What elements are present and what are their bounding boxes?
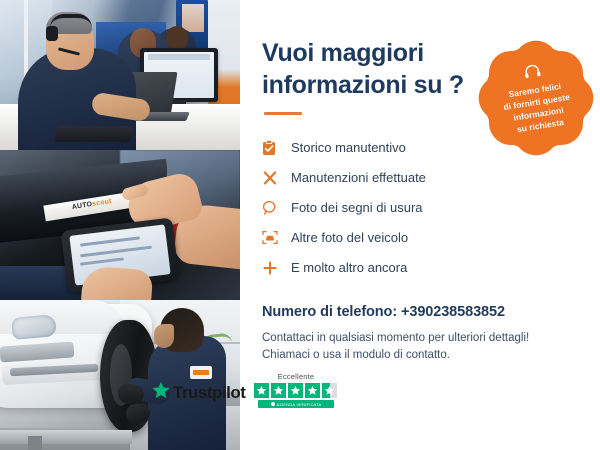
page-title-line-1: Vuoi maggiori: [262, 38, 477, 70]
trustpilot-rating-label: Eccellente: [278, 372, 315, 381]
title-underline-rule: [264, 112, 302, 115]
feature-item-foto-segni-usura: Foto dei segni di usura: [262, 193, 578, 222]
page-title: Vuoi maggiori informazioni su ?: [262, 38, 477, 101]
phone-number-line: Numero di telefono: +390238583852: [262, 304, 578, 320]
badge-content: Saremo felici di fornirti queste informa…: [474, 36, 598, 160]
magnifier-icon: [262, 200, 284, 216]
feature-label: Manutenzioni effettuate: [291, 170, 426, 185]
plus-icon: [262, 260, 284, 276]
trustpilot-star-filled: [254, 383, 269, 398]
feature-item-molto-altro: E molto altro ancora: [262, 253, 578, 282]
feature-label: Storico manutentivo: [291, 140, 406, 155]
feature-label: Altre foto del veicolo: [291, 230, 408, 245]
trustpilot-rating: Eccellente AZIEND: [254, 372, 337, 408]
request-info-badge: Saremo felici di fornirti queste informa…: [482, 44, 590, 152]
call-center-agent-headset-photo: [0, 0, 240, 150]
car-scan-icon: [262, 230, 284, 245]
feature-list: Storico manutentivo Manutenzioni effettu…: [262, 133, 578, 282]
background-colleague-2-head: [166, 26, 188, 50]
trustpilot-widget[interactable]: Trustpilot Eccellente: [152, 372, 337, 408]
laptop-keyboard: [54, 126, 134, 142]
trustpilot-star-filled: [271, 383, 286, 398]
clipboard-check-icon: [262, 140, 284, 156]
feature-label: Foto dei segni di usura: [291, 200, 423, 215]
car-headlamp: [11, 314, 57, 340]
agent-headset-earcup: [46, 26, 58, 41]
headset-icon: [522, 63, 542, 84]
monitor-screen-toolbar: [148, 54, 210, 60]
phone-label: Numero di telefono:: [262, 304, 397, 320]
trustpilot-stars: [254, 383, 337, 398]
trustpilot-star-filled: [288, 383, 303, 398]
contact-copy-line-2: Chiamaci o usa il modulo di contatto.: [262, 347, 578, 364]
trustpilot-brand: Trustpilot: [152, 381, 245, 408]
page-title-line-2: informazioni su ?: [262, 70, 477, 102]
mechanic-face: [154, 324, 174, 348]
verified-company-badge: AZIENDA VERIFICATA: [258, 400, 334, 408]
measuring-strip-label: AUTOscout: [71, 198, 112, 211]
trustpilot-star-icon: [152, 381, 170, 404]
car-lift-platform: [0, 430, 132, 444]
car-lift-post: [28, 436, 42, 450]
verified-check-icon: [271, 402, 275, 406]
wall-poster: [182, 4, 204, 32]
verified-company-text: AZIENDA VERIFICATA: [277, 402, 322, 407]
tools-cross-icon: [262, 170, 284, 186]
contact-copy-line-1: Contattaci in qualsiasi momento per ulte…: [262, 330, 578, 347]
contact-copy: Contattaci in qualsiasi momento per ulte…: [262, 330, 578, 365]
trustpilot-star-filled: [305, 383, 320, 398]
phone-number[interactable]: +390238583852: [401, 304, 505, 320]
feature-item-manutenzioni-effettuate: Manutenzioni effettuate: [262, 163, 578, 192]
trustpilot-wordmark: Trustpilot: [173, 383, 245, 403]
trustpilot-star-half: [322, 383, 337, 398]
promo-page: AUTOscout: [0, 0, 600, 450]
feature-label: E molto altro ancora: [291, 260, 407, 275]
feature-item-altre-foto-veicolo: Altre foto del veicolo: [262, 223, 578, 252]
car-damage-inspection-tablet-photo: AUTOscout: [0, 150, 240, 300]
